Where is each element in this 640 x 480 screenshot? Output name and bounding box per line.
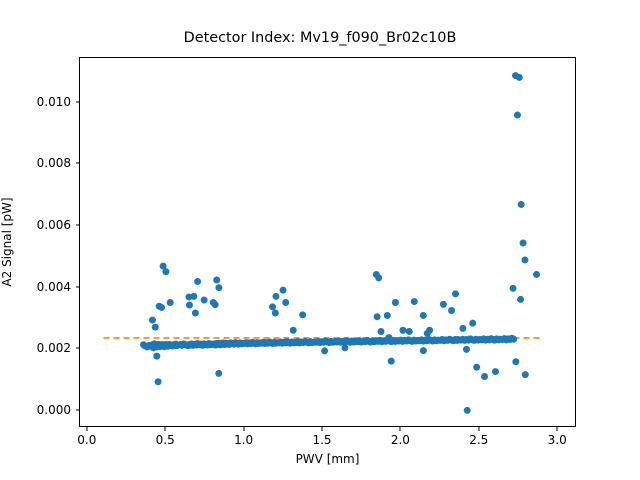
scatter-plot-canvas — [80, 58, 577, 428]
x-tick-mark — [478, 427, 479, 431]
x-tick-mark — [165, 427, 166, 431]
plot-axes-area — [79, 57, 576, 427]
x-tick-label: 1.0 — [234, 433, 253, 447]
x-tick-label: 0.5 — [156, 433, 175, 447]
x-tick-mark — [86, 427, 87, 431]
x-tick-label: 3.0 — [548, 433, 567, 447]
x-tick-label: 2.0 — [391, 433, 410, 447]
x-tick-mark — [400, 427, 401, 431]
x-tick-mark — [321, 427, 322, 431]
y-axis-tick-marks — [0, 57, 79, 427]
x-tick-mark — [243, 427, 244, 431]
x-axis-tick-labels: 0.00.51.01.52.02.53.0 — [79, 433, 576, 453]
x-tick-mark — [557, 427, 558, 431]
page-title: Detector Index: Mv19_f090_Br02c10B — [0, 30, 640, 46]
x-tick-label: 2.5 — [469, 433, 488, 447]
x-tick-label: 0.0 — [77, 433, 96, 447]
matplotlib-figure: Detector Index: Mv19_f090_Br02c10B A2 Si… — [0, 0, 640, 480]
x-axis-label: PWV [mm] — [79, 452, 576, 466]
x-tick-label: 1.5 — [312, 433, 331, 447]
